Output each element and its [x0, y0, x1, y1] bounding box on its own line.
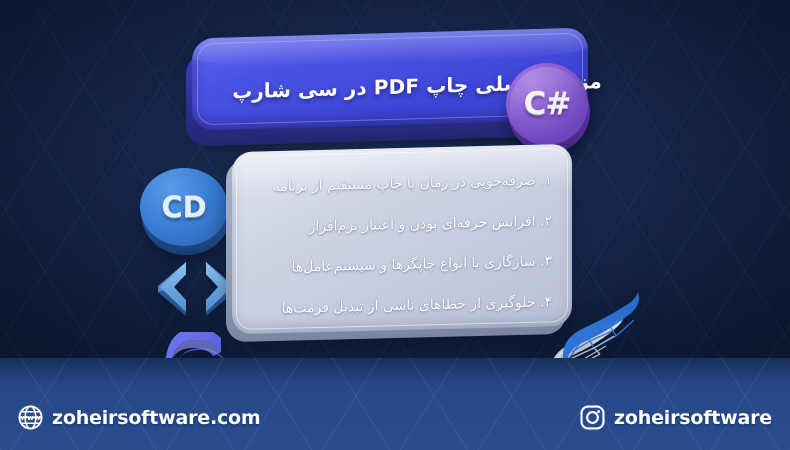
instagram-icon	[580, 405, 605, 430]
website-label: zoheirsoftware.com	[52, 407, 260, 429]
instagram-label: zoheirsoftware	[614, 407, 772, 429]
svg-text:www: www	[21, 413, 41, 422]
footer-website[interactable]: www zoheirsoftware.com	[18, 405, 260, 430]
footer-instagram[interactable]: zoheirsoftware	[580, 405, 772, 430]
globe-www-icon: www	[18, 405, 43, 430]
list-item: ۴. جلوگیری از خطاهای ناشی از تبدیل فرمت‌…	[242, 292, 552, 320]
benefits-list: ۱. صرفه‌جویی در زمان با چاپ مستقیم از بر…	[226, 144, 574, 345]
cd-badge-face: CD	[140, 168, 228, 246]
csharp-badge-face: C#	[506, 63, 588, 145]
csharp-badge-label: C#	[524, 86, 571, 122]
csharp-badge: C#	[506, 63, 592, 149]
list-item: ۳. سازگاری با انواع چاپگرها و سیستم‌عامل…	[242, 251, 552, 279]
list-item: ۱. صرفه‌جویی در زمان با چاپ مستقیم از بر…	[242, 170, 552, 198]
promo-graphic: CD	[0, 0, 790, 450]
benefits-card: ۱. صرفه‌جویی در زمان با چاپ مستقیم از بر…	[226, 148, 574, 340]
cd-badge-label: CD	[161, 190, 206, 224]
footer-band	[0, 358, 790, 450]
cd-badge: CD	[140, 168, 232, 256]
list-item: ۲. افزایش حرفه‌ای بودن و اعتبار نرم‌افزا…	[242, 211, 552, 239]
footer-pattern	[0, 358, 790, 450]
